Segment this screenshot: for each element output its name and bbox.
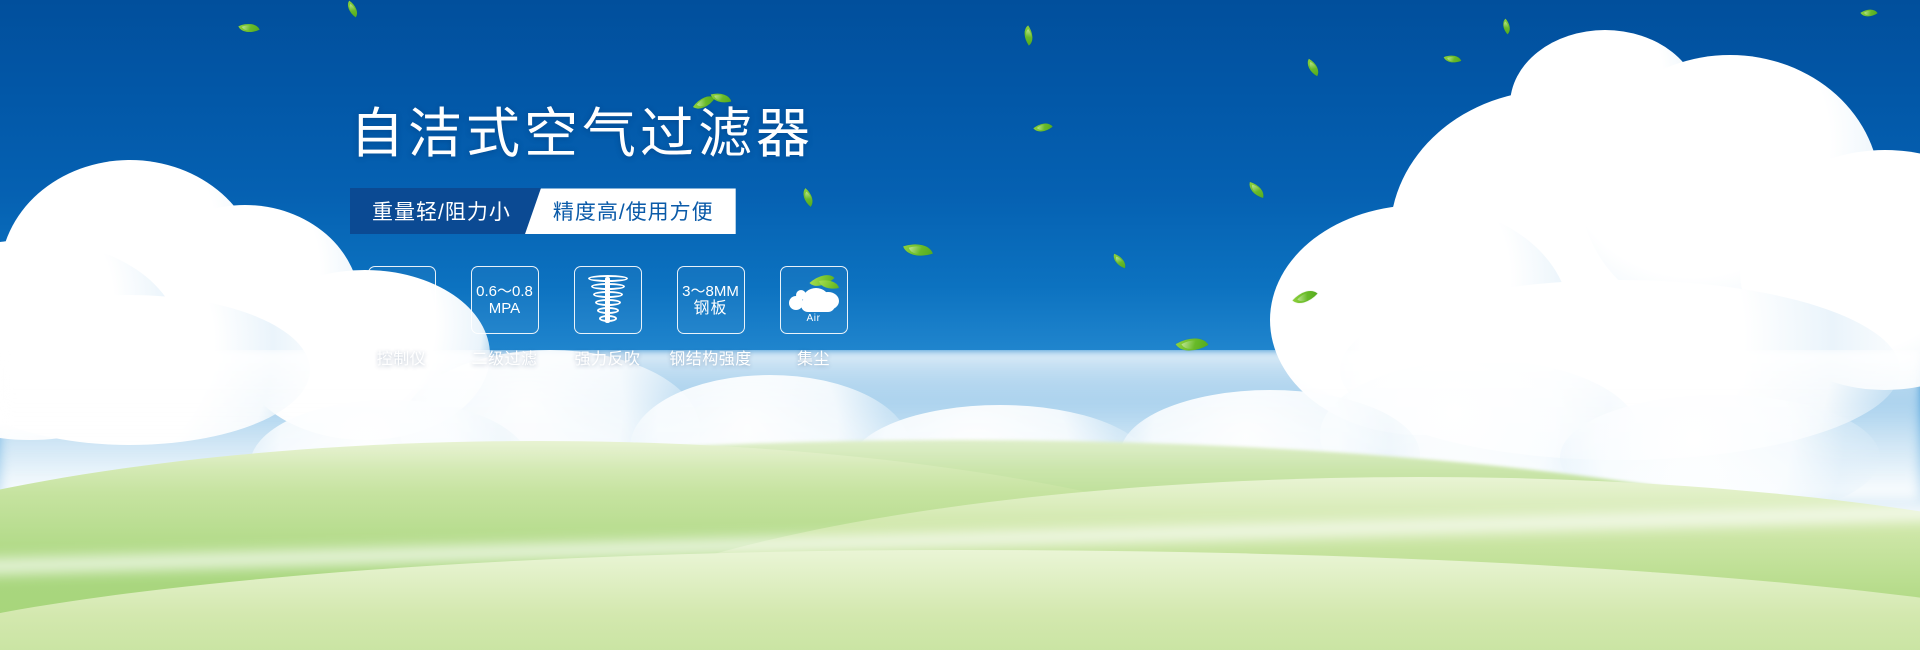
- feature-caption: 钢结构强度: [669, 345, 752, 369]
- product-banner: 自洁式空气过滤器 重量轻/阻力小 精度高/使用方便: [0, 0, 1920, 650]
- badge-primary[interactable]: 重量轻/阻力小: [350, 188, 541, 234]
- feature-item[interactable]: Air 集尘: [762, 266, 865, 369]
- feature-item[interactable]: 0.6～0.8 MPA 二级过滤: [453, 266, 556, 369]
- feature-text-line1: 0.6～0.8: [476, 283, 533, 300]
- feature-icon-box: NO OFF: [368, 266, 436, 334]
- feature-icon-box: [574, 266, 642, 334]
- feature-caption: 集尘: [797, 345, 830, 369]
- feature-caption: 二级过滤: [471, 345, 537, 369]
- feature-item[interactable]: 3～8MM 钢板 钢结构强度: [659, 266, 762, 369]
- feature-item[interactable]: NO OFF 控制仪: [350, 266, 453, 369]
- air-cloud-icon: Air: [787, 278, 841, 322]
- air-label: Air: [787, 313, 841, 325]
- coil-blowback-icon: [586, 275, 630, 325]
- dial-stem: [398, 285, 406, 315]
- feature-text-line2: MPA: [489, 300, 520, 317]
- dial-label-off: OFF: [420, 318, 433, 325]
- power-dial-icon: NO OFF: [376, 274, 428, 326]
- feature-icon-box: 3～8MM 钢板: [677, 266, 745, 334]
- feature-caption: 强力反吹: [574, 345, 640, 369]
- dial-label-no: NO: [372, 303, 382, 310]
- feature-icon-box: 0.6～0.8 MPA: [471, 266, 539, 334]
- page-title: 自洁式空气过滤器: [350, 104, 1070, 164]
- feature-caption: 控制仪: [377, 345, 427, 369]
- badge-secondary[interactable]: 精度高/使用方便: [525, 188, 736, 234]
- badge-group: 重量轻/阻力小 精度高/使用方便: [350, 188, 1070, 234]
- feature-icon-box: Air: [780, 266, 848, 334]
- banner-content: 自洁式空气过滤器 重量轻/阻力小 精度高/使用方便: [350, 104, 1070, 369]
- grass-field: [0, 350, 1920, 650]
- feature-item[interactable]: 强力反吹: [556, 266, 659, 369]
- feature-list: NO OFF 控制仪 0.6～0.8 MPA 二级过滤: [350, 266, 1070, 369]
- feature-text-line1: 3～8MM: [682, 283, 739, 300]
- feature-text-line2: 钢板: [693, 300, 727, 318]
